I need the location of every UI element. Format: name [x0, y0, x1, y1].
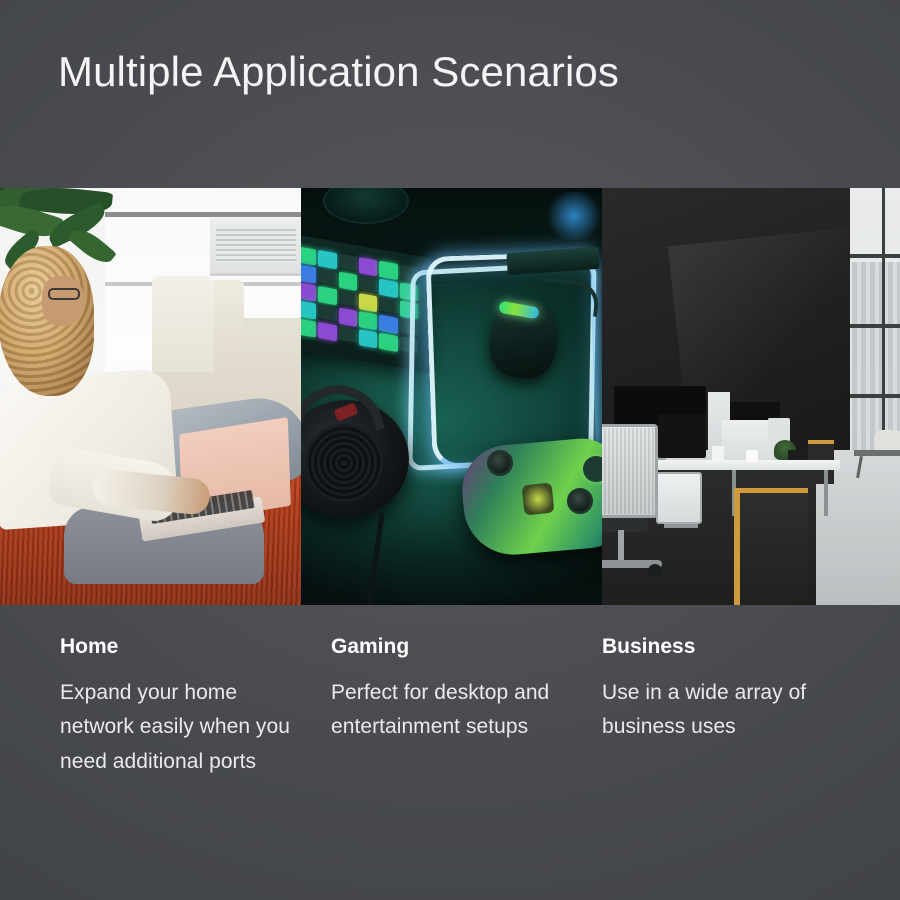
key-icon	[301, 300, 316, 319]
scenario-body-business: Use in a wide array of business uses	[602, 676, 852, 745]
scenario-column-gaming: Gaming Perfect for desktop and entertain…	[331, 636, 581, 745]
home-scene-illustration	[0, 188, 301, 605]
monitor-icon	[658, 414, 706, 458]
key-icon	[339, 254, 357, 273]
chair-seat-icon	[602, 518, 648, 532]
page-title: Multiple Application Scenarios	[58, 44, 858, 100]
scenario-title-business: Business	[602, 636, 852, 657]
eyeglasses-icon	[48, 288, 80, 300]
controller-dpad-icon	[522, 483, 555, 516]
key-icon	[301, 264, 316, 283]
application-scenarios-page: Multiple Application Scenarios	[0, 0, 900, 900]
chair-mesh-icon	[602, 428, 654, 514]
key-icon	[339, 308, 357, 327]
coffee-cup-icon	[712, 446, 724, 462]
controller-thumbstick-icon	[487, 450, 513, 476]
key-icon	[339, 272, 357, 291]
key-icon	[379, 333, 397, 352]
key-icon	[339, 326, 357, 345]
sofa-arm-icon	[152, 276, 214, 372]
scenario-column-home: Home Expand your home network easily whe…	[60, 636, 310, 779]
scenario-body-home: Expand your home network easily when you…	[60, 676, 310, 779]
desk-leg-icon	[824, 470, 828, 516]
key-icon	[318, 304, 336, 323]
key-icon	[301, 246, 316, 265]
storage-cabinet-icon	[734, 488, 808, 605]
scenario-image-home	[0, 188, 301, 605]
scenario-column-business: Business Use in a wide array of business…	[602, 636, 852, 745]
controller-buttons-icon	[583, 456, 602, 482]
key-icon	[359, 329, 377, 348]
key-icon	[359, 311, 377, 330]
key-icon	[379, 297, 397, 316]
key-icon	[318, 268, 336, 287]
blue-glow-icon	[545, 192, 602, 240]
key-icon	[301, 282, 316, 301]
office-desk-icon	[632, 460, 840, 470]
key-icon	[318, 286, 336, 305]
scenario-title-gaming: Gaming	[331, 636, 581, 657]
scenario-image-business	[602, 188, 900, 605]
chair-post-icon	[618, 530, 624, 564]
key-icon	[318, 322, 336, 341]
headset-cable-icon	[366, 512, 384, 605]
key-icon	[379, 279, 397, 298]
headset-earpad-icon	[305, 424, 383, 502]
business-scene-illustration	[602, 188, 900, 605]
office-chair-icon	[656, 472, 702, 524]
key-icon	[301, 318, 316, 337]
chair-base-icon	[664, 524, 698, 528]
key-icon	[359, 293, 377, 312]
scenario-image-strip	[0, 188, 900, 605]
scenario-title-home: Home	[60, 636, 310, 657]
chair-wheel-icon	[648, 564, 662, 578]
key-icon	[359, 257, 377, 276]
lounge-sofa-icon	[874, 430, 900, 452]
key-icon	[379, 315, 397, 334]
key-icon	[318, 250, 336, 269]
controller-thumbstick-icon	[567, 488, 593, 514]
key-icon	[339, 290, 357, 309]
person-face-icon	[42, 276, 84, 326]
mug-icon	[746, 450, 758, 462]
key-icon	[379, 261, 397, 280]
air-conditioner-icon	[210, 218, 301, 276]
key-icon	[359, 275, 377, 294]
scenario-captions: Home Expand your home network easily whe…	[0, 636, 900, 866]
scenario-body-gaming: Perfect for desktop and entertainment se…	[331, 676, 581, 745]
gaming-scene-illustration	[301, 188, 602, 605]
scenario-image-gaming	[301, 188, 602, 605]
page-title-text: Multiple Application Scenarios	[58, 49, 619, 95]
